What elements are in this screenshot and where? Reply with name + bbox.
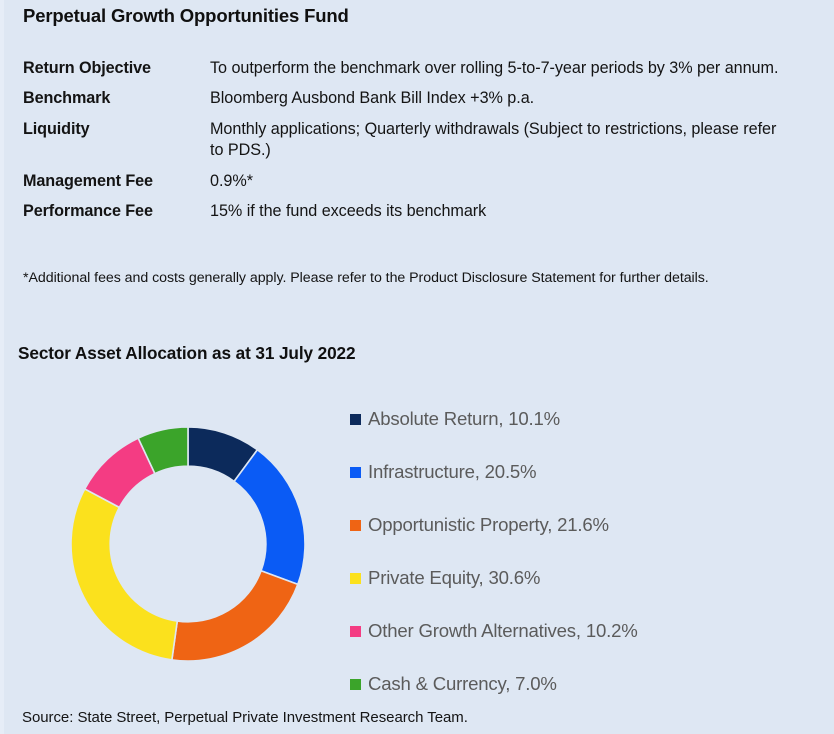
legend-swatch-icon	[350, 414, 361, 425]
detail-label-management-fee: Management Fee	[23, 171, 210, 201]
detail-value-liquidity: Monthly applications; Quarterly withdraw…	[210, 119, 813, 171]
legend-item-absolute-return: Absolute Return, 10.1%	[350, 392, 820, 445]
donut-slice	[234, 450, 305, 585]
fund-details-table: Return Objective To outperform the bench…	[23, 58, 813, 231]
detail-label-performance-fee: Performance Fee	[23, 201, 210, 231]
detail-label-liquidity: Liquidity	[23, 119, 210, 171]
donut-chart-svg	[64, 420, 312, 668]
legend-item-label: Private Equity, 30.6%	[368, 567, 540, 589]
fees-footnote: *Additional fees and costs generally app…	[23, 270, 709, 286]
legend-swatch-icon	[350, 626, 361, 637]
table-row: Management Fee 0.9%*	[23, 171, 813, 201]
legend-item-infrastructure: Infrastructure, 20.5%	[350, 445, 820, 498]
table-row: Return Objective To outperform the bench…	[23, 58, 813, 88]
legend-item-label: Absolute Return, 10.1%	[368, 408, 560, 430]
detail-value-performance-fee: 15% if the fund exceeds its benchmark	[210, 201, 813, 231]
detail-label-return-objective: Return Objective	[23, 58, 210, 88]
legend-item-label: Cash & Currency, 7.0%	[368, 673, 557, 695]
legend-item-label: Other Growth Alternatives, 10.2%	[368, 620, 638, 642]
legend-swatch-icon	[350, 679, 361, 690]
legend-item-label: Opportunistic Property, 21.6%	[368, 514, 609, 536]
section-title-sector-allocation: Sector Asset Allocation as at 31 July 20…	[18, 343, 355, 364]
table-row: Performance Fee 15% if the fund exceeds …	[23, 201, 813, 231]
legend-swatch-icon	[350, 573, 361, 584]
detail-value-benchmark: Bloomberg Ausbond Bank Bill Index +3% p.…	[210, 88, 813, 118]
factsheet-page: Perpetual Growth Opportunities Fund Retu…	[0, 0, 834, 734]
detail-label-benchmark: Benchmark	[23, 88, 210, 118]
source-note: Source: State Street, Perpetual Private …	[22, 709, 468, 726]
page-title: Perpetual Growth Opportunities Fund	[23, 5, 349, 27]
legend-item-opportunistic-property: Opportunistic Property, 21.6%	[350, 498, 820, 551]
donut-slice-group	[71, 427, 305, 661]
legend-item-label: Infrastructure, 20.5%	[368, 461, 536, 483]
donut-chart	[64, 420, 312, 668]
fund-details-body: Return Objective To outperform the bench…	[23, 58, 813, 231]
detail-value-management-fee: 0.9%*	[210, 171, 813, 201]
table-row: Benchmark Bloomberg Ausbond Bank Bill In…	[23, 88, 813, 118]
legend-swatch-icon	[350, 520, 361, 531]
legend-item-cash-and-currency: Cash & Currency, 7.0%	[350, 657, 820, 710]
sector-allocation-chart: Absolute Return, 10.1% Infrastructure, 2…	[4, 380, 834, 690]
chart-legend: Absolute Return, 10.1% Infrastructure, 2…	[350, 392, 820, 710]
donut-slice	[172, 571, 298, 661]
legend-item-private-equity: Private Equity, 30.6%	[350, 551, 820, 604]
table-row: Liquidity Monthly applications; Quarterl…	[23, 119, 813, 171]
detail-value-return-objective: To outperform the benchmark over rolling…	[210, 58, 813, 88]
legend-swatch-icon	[350, 467, 361, 478]
legend-item-other-growth-alternatives: Other Growth Alternatives, 10.2%	[350, 604, 820, 657]
donut-slice	[71, 489, 177, 660]
